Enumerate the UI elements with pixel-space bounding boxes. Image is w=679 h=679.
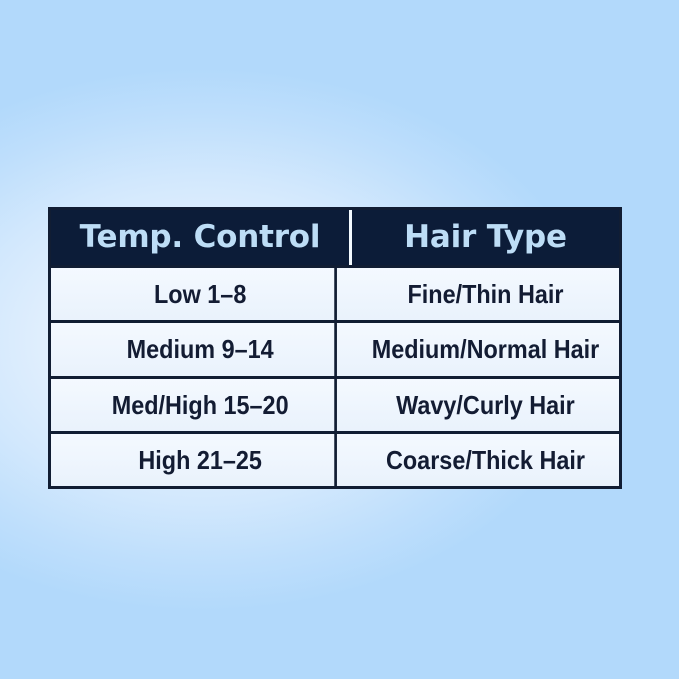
cell-hair-type: Coarse/Thick Hair (365, 434, 605, 486)
cell-temp-control: Med/High 15–20 (66, 379, 337, 431)
column-header-hair-type: Hair Type (352, 210, 619, 265)
cell-temp-control: Low 1–8 (66, 268, 337, 320)
column-header-temp-control: Temp. Control (51, 210, 352, 265)
table-row: Low 1–8 Fine/Thin Hair (51, 265, 619, 320)
cell-temp-control: Medium 9–14 (66, 323, 337, 375)
temperature-hair-type-table: Temp. Control Hair Type Low 1–8 Fine/Thi… (48, 207, 622, 489)
cell-hair-type: Fine/Thin Hair (365, 268, 605, 320)
cell-hair-type: Medium/Normal Hair (365, 323, 605, 375)
table-header-row: Temp. Control Hair Type (51, 210, 619, 265)
cell-hair-type: Wavy/Curly Hair (365, 379, 605, 431)
table-row: Medium 9–14 Medium/Normal Hair (51, 320, 619, 375)
cell-temp-control: High 21–25 (66, 434, 337, 486)
table-row: Med/High 15–20 Wavy/Curly Hair (51, 376, 619, 431)
page-canvas: Temp. Control Hair Type Low 1–8 Fine/Thi… (0, 0, 679, 679)
table-row: High 21–25 Coarse/Thick Hair (51, 431, 619, 486)
